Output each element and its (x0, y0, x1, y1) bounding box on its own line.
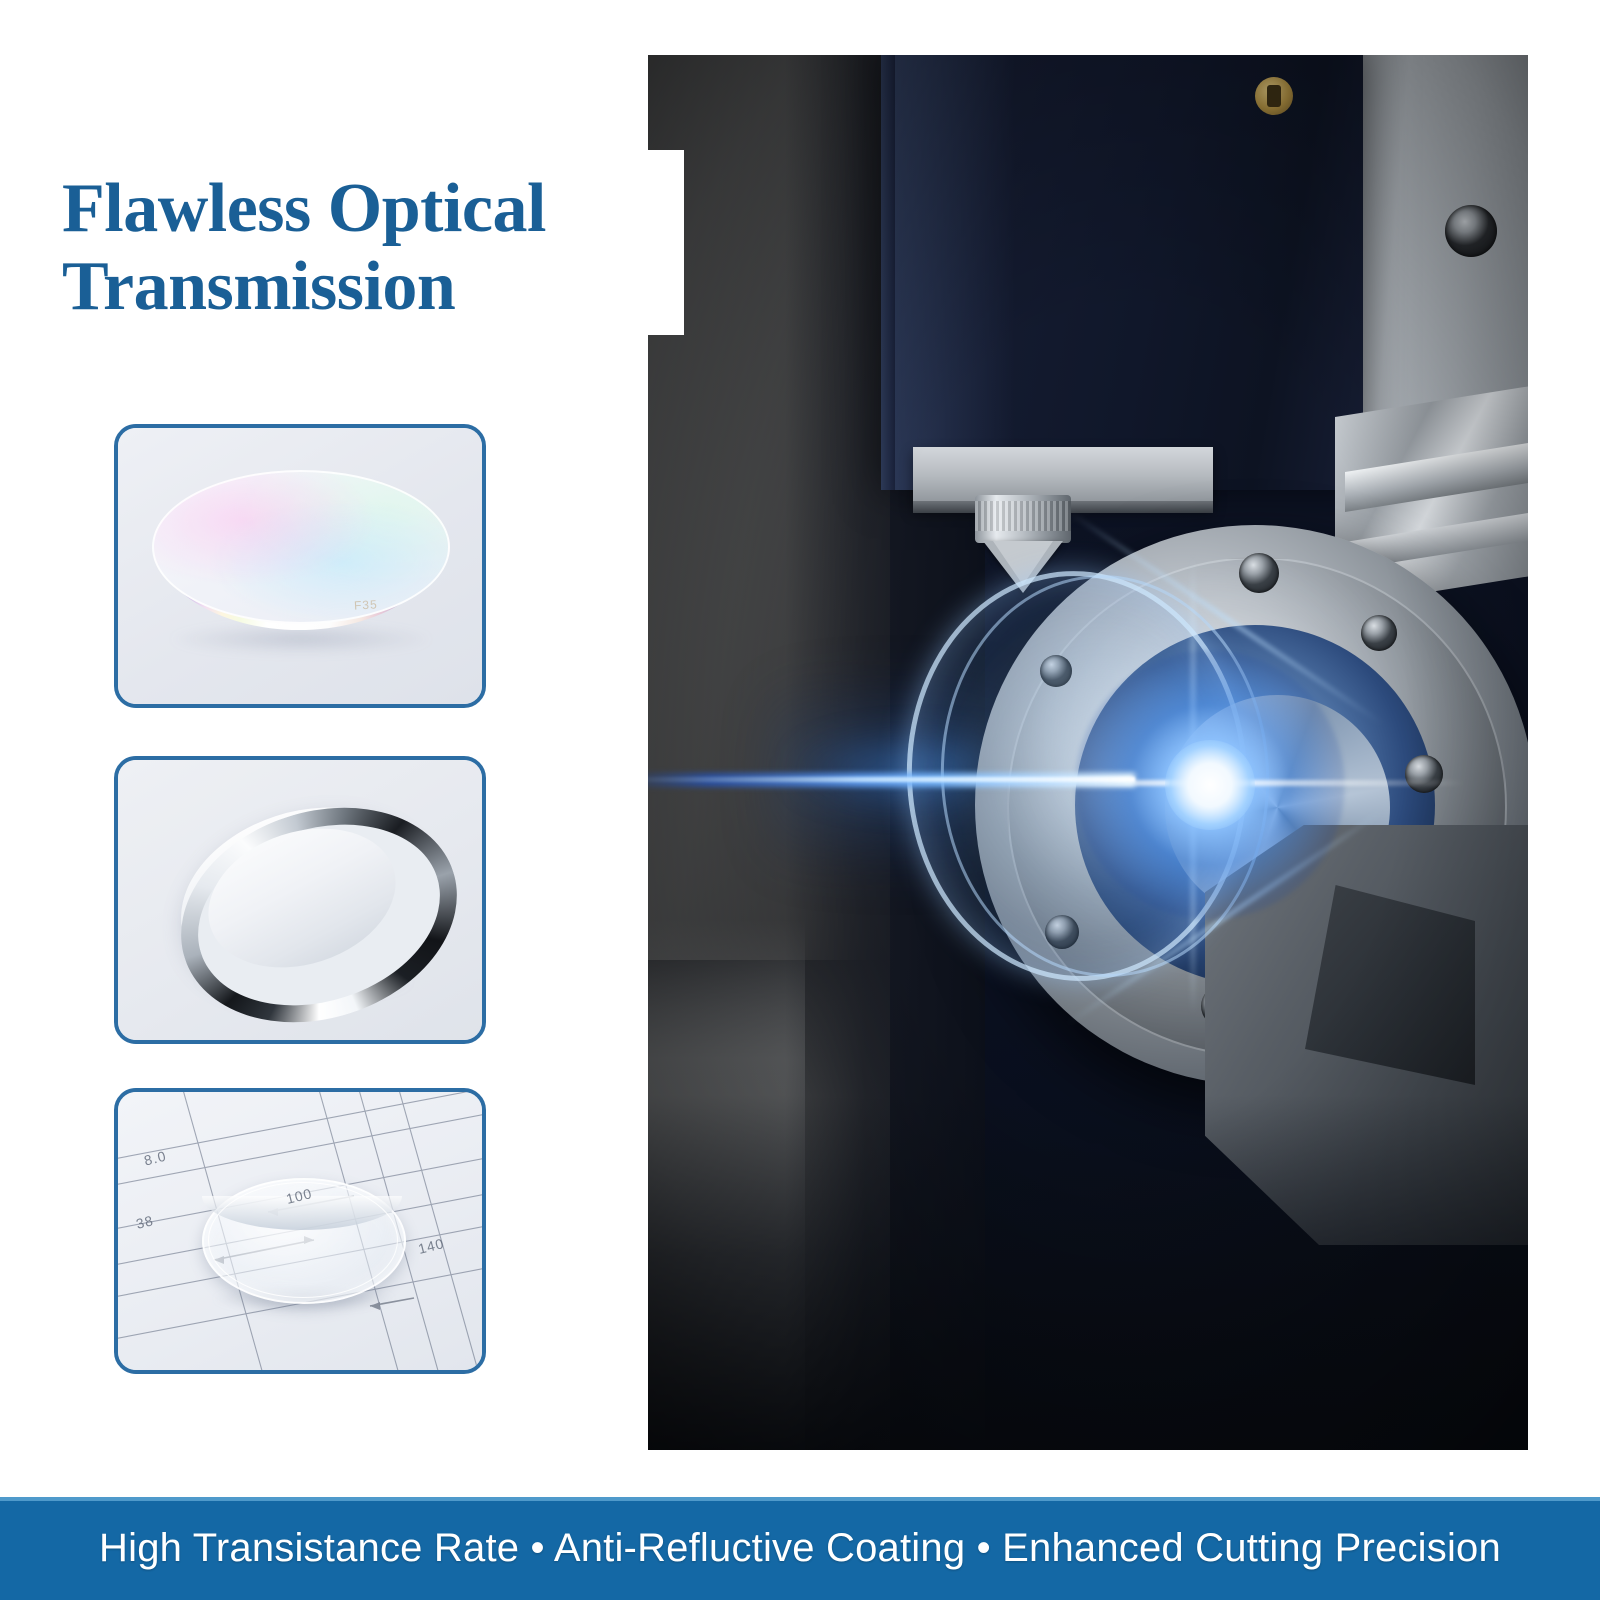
title-panel-top (0, 55, 648, 155)
banner-text: High Transistance Rate • Anti-Refluctive… (0, 1497, 1600, 1600)
card1-lens-edge-mark: F35 (354, 597, 378, 612)
page-title-line2: Transmission (62, 248, 682, 326)
laser-machine-photo (645, 55, 1528, 1450)
photo-canvas (645, 55, 1528, 1450)
product-card-blueprint-lens[interactable]: 100 140 8.0 38 (114, 1088, 486, 1374)
card1-lens-coated-face (152, 470, 450, 624)
card-image-blueprint-lens: 100 140 8.0 38 (118, 1092, 482, 1370)
photo-vignette (645, 55, 1528, 1450)
card-image-coated-lens: F35 (118, 428, 482, 704)
card-image-mirror-disc (118, 760, 482, 1040)
product-card-coated-lens[interactable]: F35 (114, 424, 486, 708)
page-title-line1: Flawless Optical (62, 170, 546, 247)
poster-root: Flawless Optical Transmission F35 (0, 0, 1600, 1600)
feature-banner: High Transistance Rate • Anti-Refluctive… (0, 1497, 1600, 1600)
page-title: Flawless Optical Transmission (62, 170, 682, 327)
product-card-mirror-disc[interactable] (114, 756, 486, 1044)
